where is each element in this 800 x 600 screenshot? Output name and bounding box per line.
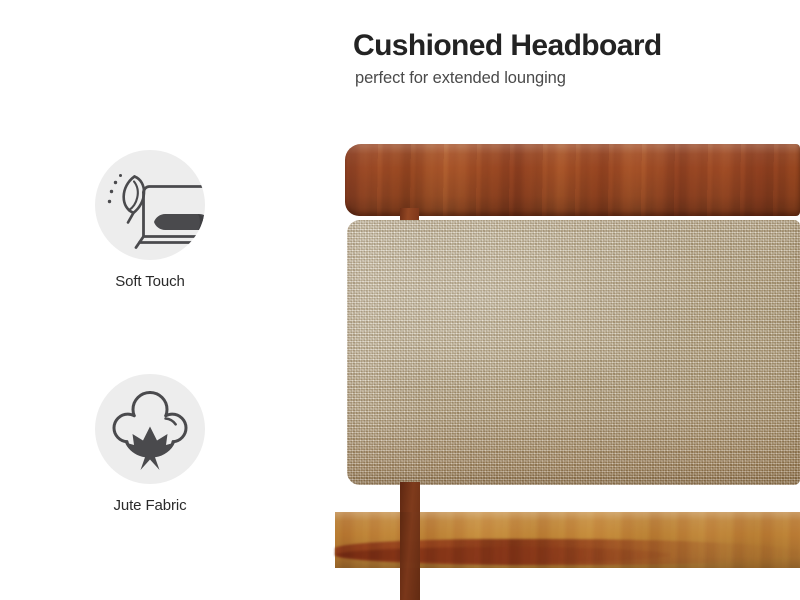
jute-cushion-panel (347, 220, 800, 485)
feature-item-soft-touch[interactable]: Soft Touch (60, 150, 240, 292)
wood-grain-streak-2 (335, 547, 670, 563)
page-subtitle: perfect for extended lounging (355, 68, 773, 88)
top-wooden-rail (345, 144, 800, 216)
product-image (330, 120, 800, 600)
feather-cushion-icon (95, 150, 205, 260)
pillow-shape (154, 214, 205, 230)
header: Cushioned Headboard perfect for extended… (353, 28, 773, 88)
feature-list: Soft Touch (0, 0, 300, 600)
feature-badge-jute-fabric (95, 374, 205, 484)
feature-badge-soft-touch (95, 150, 205, 260)
page-title: Cushioned Headboard (353, 28, 773, 64)
vertical-post-front (400, 512, 420, 600)
calyx-shape (125, 427, 175, 471)
feature-item-jute-fabric[interactable]: Jute Fabric (60, 374, 240, 516)
promo-banner: Cushioned Headboard perfect for extended… (0, 0, 800, 600)
feature-label-soft-touch: Soft Touch (60, 272, 240, 292)
feature-label-jute-fabric: Jute Fabric (60, 496, 240, 516)
cotton-boll-icon (95, 374, 205, 484)
